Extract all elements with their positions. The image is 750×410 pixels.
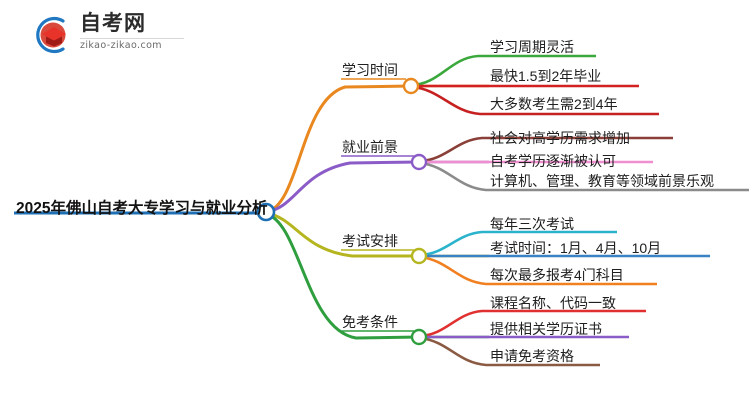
branch-node-1[interactable] xyxy=(404,79,418,93)
branch-node-4[interactable] xyxy=(412,330,426,344)
branch-node-2[interactable] xyxy=(412,155,426,169)
branch-label-3[interactable]: 考试安排 xyxy=(342,231,398,251)
branch-label-1[interactable]: 学习时间 xyxy=(342,60,398,80)
leaf-label-2-2[interactable]: 自考学历逐渐被认可 xyxy=(490,151,616,171)
leaf-label-4-2[interactable]: 提供相关学历证书 xyxy=(490,319,602,339)
leaf-label-2-3[interactable]: 计算机、管理、教育等领域前景乐观 xyxy=(490,171,714,191)
leaf-label-3-1[interactable]: 每年三次考试 xyxy=(490,214,574,234)
branch-node-3[interactable] xyxy=(412,249,426,263)
leaf-label-2-1[interactable]: 社会对高学历需求增加 xyxy=(490,128,630,148)
leaf-label-3-3[interactable]: 每次最多报考4门科目 xyxy=(490,265,624,285)
root-label[interactable]: 2025年佛山自考大专学习与就业分析 xyxy=(16,196,267,218)
leaf-label-3-2[interactable]: 考试时间：1月、4月、10月 xyxy=(490,238,661,258)
leaf-label-4-3[interactable]: 申请免考资格 xyxy=(490,346,574,366)
branch-label-2[interactable]: 就业前景 xyxy=(342,137,398,157)
leaf-label-1-1[interactable]: 学习周期灵活 xyxy=(490,37,574,57)
leaf-label-4-1[interactable]: 课程名称、代码一致 xyxy=(490,293,616,313)
branch-label-4[interactable]: 免考条件 xyxy=(342,312,398,332)
leaf-label-1-3[interactable]: 大多数考生需2到4年 xyxy=(490,94,618,114)
leaf-label-1-2[interactable]: 最快1.5到2年毕业 xyxy=(490,66,601,86)
